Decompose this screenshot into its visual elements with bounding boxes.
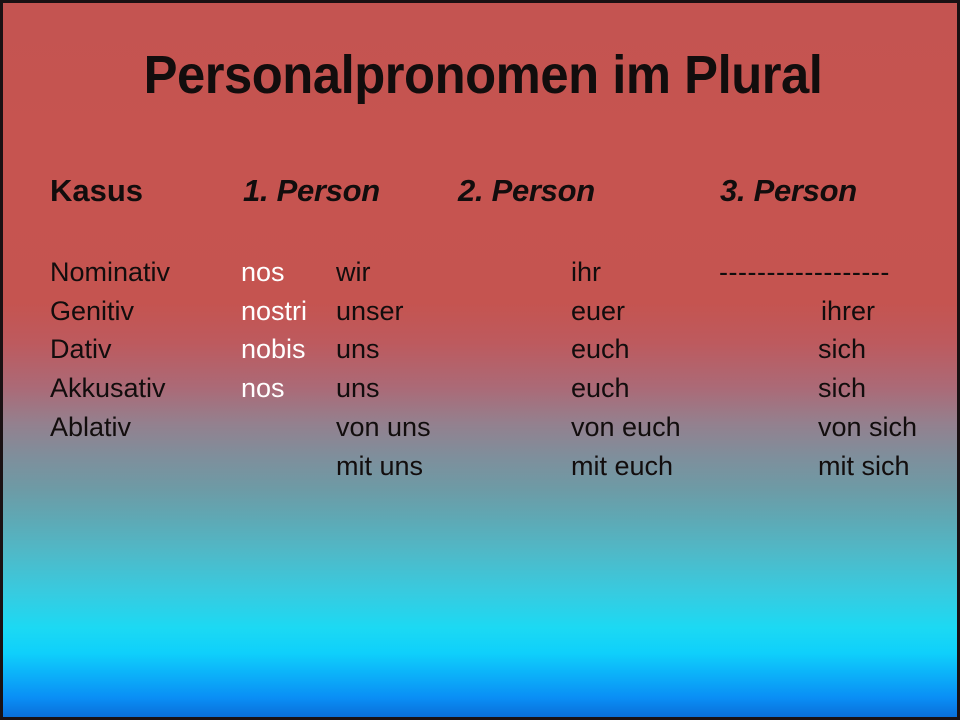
slide-canvas: Personalpronomen im Plural Kasus 1. Pers… <box>0 0 960 720</box>
table-cell-person-2: euch <box>571 375 630 402</box>
table-cell-latin: nos <box>241 375 285 402</box>
table-row-case-label: Genitiv <box>50 298 134 325</box>
table-cell-latin: nos <box>241 259 285 286</box>
table-cell-person-1: mit uns <box>336 453 423 480</box>
table-cell-person-2: ihr <box>571 259 601 286</box>
table-cell-person-1: uns <box>336 375 380 402</box>
table-cell-person-3: von sich <box>818 414 917 441</box>
table-cell-person-3: sich <box>818 375 866 402</box>
table-cell-person-3: mit sich <box>818 453 910 480</box>
column-header-person-3: 3. Person <box>720 175 857 206</box>
table-cell-latin: nostri <box>241 298 307 325</box>
table-row-case-label: Ablativ <box>50 414 131 441</box>
table-cell-person-1: wir <box>336 259 371 286</box>
table-cell-person-1: unser <box>336 298 404 325</box>
table-cell-person-1: uns <box>336 336 380 363</box>
table-row-case-label: Nominativ <box>50 259 170 286</box>
pronoun-declension-table: Kasus 1. Person 2. Person 3. Person Nomi… <box>3 3 960 720</box>
table-cell-person-2: euer <box>571 298 625 325</box>
table-cell-person-3: ihrer <box>821 298 875 325</box>
column-header-kasus: Kasus <box>50 175 143 206</box>
table-cell-person-3: sich <box>818 336 866 363</box>
table-cell-person-2: mit euch <box>571 453 673 480</box>
table-row-case-label: Dativ <box>50 336 112 363</box>
column-header-person-2: 2. Person <box>458 175 595 206</box>
table-cell-person-2: euch <box>571 336 630 363</box>
table-cell-person-3-placeholder-dashes: ------------------ <box>719 259 890 286</box>
column-header-person-1: 1. Person <box>243 175 380 206</box>
table-cell-person-2: von euch <box>571 414 681 441</box>
table-row-case-label: Akkusativ <box>50 375 166 402</box>
table-cell-person-1: von uns <box>336 414 431 441</box>
table-cell-latin: nobis <box>241 336 306 363</box>
